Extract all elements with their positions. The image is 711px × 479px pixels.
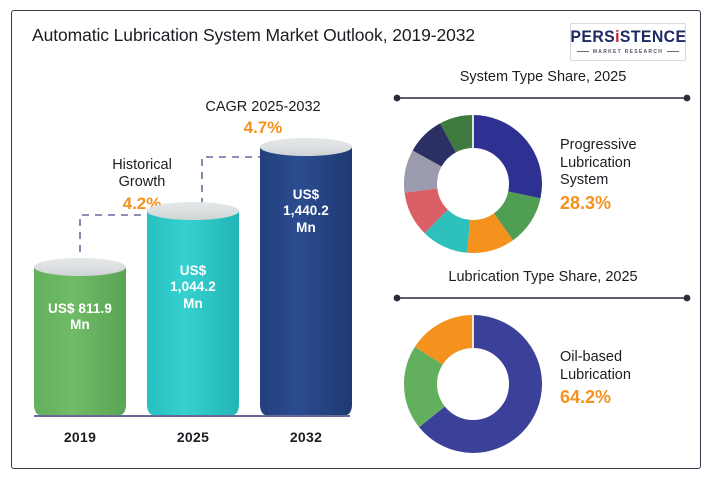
annotation-historical-growth-label-line1: Historical [74, 157, 210, 174]
system-type-callout-line1: Progressive [560, 137, 700, 155]
system-type-share-callout: Progressive Lubrication System 28.3% [560, 137, 700, 215]
share-charts-panel: System Type Share, 2025 [384, 69, 702, 469]
brand-logo: PERSiSTENCE MARKET RESEARCH [570, 23, 686, 61]
annotation-cagr-value: 4.7% [188, 118, 338, 138]
bar-2032-value-line1: US$ [260, 187, 352, 203]
lubrication-type-callout-line2: Lubrication [560, 367, 700, 385]
bar-chart-axis-line [34, 415, 350, 417]
logo-word-part-a: PERS [570, 28, 615, 46]
bar-2032-value-line2: 1,440.2 [260, 203, 352, 219]
logo-subtitle-row: MARKET RESEARCH [577, 49, 679, 55]
bar-2025[interactable]: US$ 1,044.2 Mn [147, 211, 239, 415]
logo-rule-left [577, 51, 589, 52]
bar-2032-value-line3: Mn [260, 220, 352, 236]
lubrication-type-share-callout: Oil-based Lubrication 64.2% [560, 349, 700, 409]
infographic-frame: Automatic Lubrication System Market Outl… [11, 10, 701, 469]
system-type-callout-line3: System [560, 172, 700, 190]
bar-2019-value-line2: Mn [34, 317, 126, 333]
bar-xlabel-2019: 2019 [34, 429, 126, 445]
lubrication-type-callout-line1: Oil-based [560, 349, 700, 367]
lubrication-type-share-title: Lubrication Type Share, 2025 [384, 269, 702, 285]
logo-word-accent-i: i [615, 28, 620, 46]
bar-2019-value: US$ 811.9 Mn [34, 301, 126, 334]
bar-2019-value-line1: US$ 811.9 [34, 301, 126, 317]
system-type-share-title: System Type Share, 2025 [384, 69, 702, 85]
bar-2025-cap [147, 202, 239, 220]
logo-subtitle: MARKET RESEARCH [593, 49, 663, 55]
bar-2025-value: US$ 1,044.2 Mn [147, 263, 239, 312]
bar-2025-value-line2: 1,044.2 [147, 279, 239, 295]
bar-xlabel-2032: 2032 [260, 429, 352, 445]
annotation-cagr-label: CAGR 2025-2032 [188, 99, 338, 116]
system-type-callout-value: 28.3% [560, 193, 700, 215]
system-type-share-donut[interactable] [398, 109, 548, 259]
bar-2025-value-line3: Mn [147, 296, 239, 312]
annotation-historical-growth-label-line2: Growth [74, 174, 210, 191]
bar-chart-panel: Historical Growth 4.2% CAGR 2025-2032 4.… [12, 69, 372, 469]
bar-2032-value: US$ 1,440.2 Mn [260, 187, 352, 236]
system-type-share-rule [392, 93, 692, 103]
annotation-cagr: CAGR 2025-2032 4.7% [188, 99, 338, 139]
logo-wordmark: PERSiSTENCE [570, 29, 686, 46]
bar-2032[interactable]: US$ 1,440.2 Mn [260, 147, 352, 415]
bar-2019-cap [34, 258, 126, 276]
bar-2025-body [147, 211, 239, 415]
bar-xlabel-2025: 2025 [147, 429, 239, 445]
lubrication-type-share-donut[interactable] [398, 309, 548, 459]
system-type-callout-line2: Lubrication [560, 155, 700, 173]
lubrication-type-callout-value: 64.2% [560, 387, 700, 409]
logo-word-part-b: STENCE [619, 28, 686, 46]
bar-2019[interactable]: US$ 811.9 Mn [34, 267, 126, 415]
bar-2019-body [34, 267, 126, 415]
bar-2032-cap [260, 138, 352, 156]
logo-rule-right [667, 51, 679, 52]
lubrication-type-share-rule [392, 293, 692, 303]
bar-2025-value-line1: US$ [147, 263, 239, 279]
page-title: Automatic Lubrication System Market Outl… [32, 24, 552, 47]
